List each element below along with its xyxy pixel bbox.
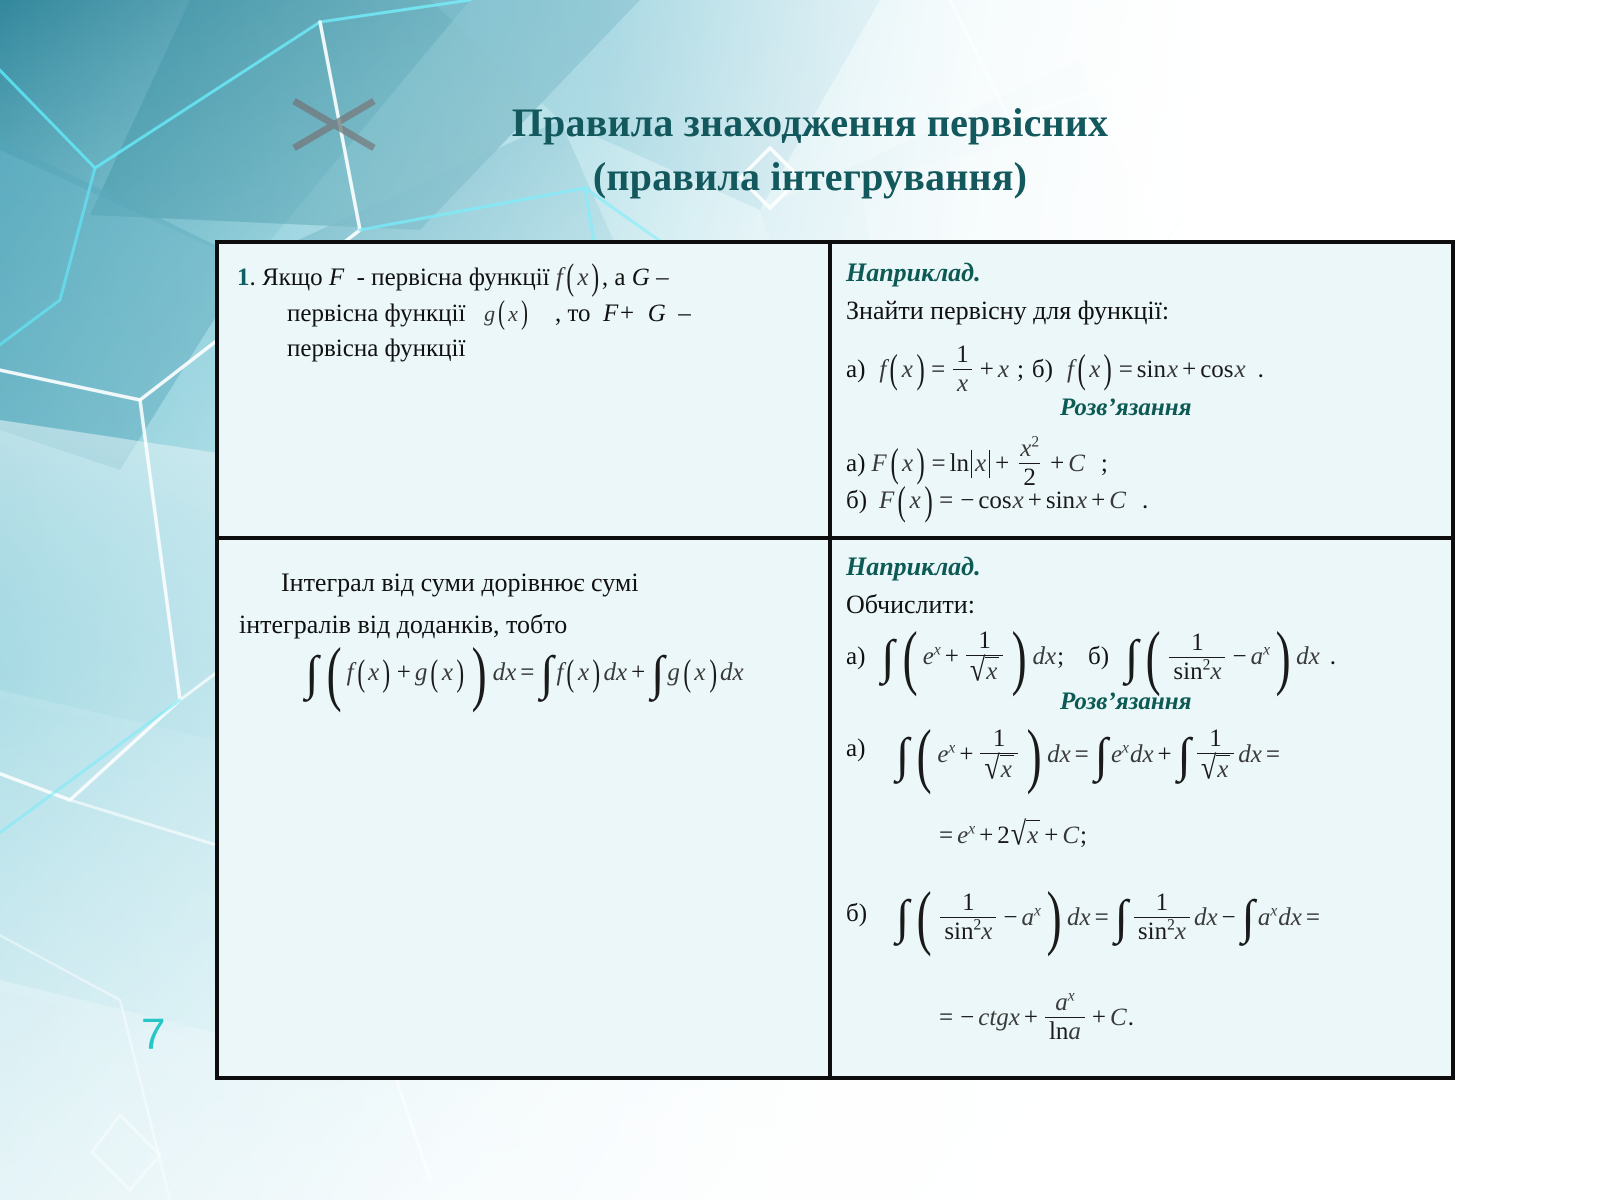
rule-1-dash-1: – [656,264,669,291]
rule-1-part-1: . Якщо [250,264,323,291]
formula-2a: ∫(ex+ 1√x )dx; [879,628,1064,686]
example-1-period: . [1258,356,1264,384]
rules-table: 1. Якщо F - первісна функції f(x), а G –… [215,240,1455,1080]
var-G: G [632,264,650,291]
rule-2-statement: Інтеграл від суми дорівнює сумі інтеграл… [239,562,812,646]
solution-1b-end: . [1142,487,1148,515]
rule-1-statement: 1. Якщо F - первісна функції f(x), а G –… [237,260,818,367]
formula-1b: f(x)= sinx+cosx [1067,356,1246,384]
formula-2b: ∫( 1sin2x −ax)dx [1123,630,1320,685]
table-row: Інтеграл від суми дорівнює сумі інтеграл… [219,540,1451,1076]
page-title: Правила знаходження первісних (правила і… [230,96,1390,204]
rule-2-cell: Інтеграл від суми дорівнює сумі інтеграл… [219,540,832,1076]
example-2-label-a: а) [846,643,865,671]
title-line-1: Правила знаходження первісних [230,96,1390,150]
title-line-2: (правила інтегрування) [230,150,1390,204]
var-F: F [329,264,344,291]
solution-1a-label: а) [846,450,865,478]
solution-1a-end: ; [1101,450,1108,478]
solution-2-heading: Розв’язання [1060,688,1192,716]
rule-2-formula: ∫(f(x)+g(x))dx= ∫f(x)dx+ ∫g(x)dx [219,658,828,695]
rule-number: 1 [237,264,250,291]
integral-sum-identity: ∫(f(x)+g(x))dx= ∫f(x)dx+ ∫g(x)dx [303,658,743,688]
example-1-label-a: а) [846,356,865,384]
math-g-of-x: g(x) [484,298,530,329]
example-1-heading: Наприклад. [846,258,981,288]
rule-2-line-1: Інтеграл від суми дорівнює сумі [239,562,812,604]
rule-1-part-3: , а [602,264,626,291]
rule-1-cell: 1. Якщо F - первісна функції f(x), а G –… [219,244,832,536]
example-1-label-b: б) [1032,356,1053,384]
example-2-period: . [1330,643,1336,671]
rule-1-dash-2: – [678,300,691,327]
table-row: 1. Якщо F - первісна функції f(x), а G –… [219,244,1451,540]
sum-F: F+ [603,300,635,327]
solution-2a-line-1: ∫(ex+ 1√x )dx= ∫exdx+ ∫ 1√x dx= [894,726,1283,784]
solution-2a-line-2: =ex+2√x+C; [936,820,1087,852]
sum-G: G [648,300,666,327]
math-f-of-x: f(x) [556,260,602,296]
example-1-prompt: Знайти первісну для функції: [846,296,1169,326]
rule-1-part-6: первісна функції [237,331,818,367]
example-1-formulas: а) f(x)= 1x+x ; б) f(x)= sinx+cosx . [846,342,1264,397]
solution-1b-label: б) [846,487,867,515]
page-number: 7 [141,1010,165,1060]
example-2-formulas: а) ∫(ex+ 1√x )dx; б) ∫( 1sin2x −ax)dx . [846,628,1336,686]
solution-1b-formula: F(x)= −cosx+sinx+C [879,487,1126,515]
formula-1a: f(x)= 1x+x [879,342,1009,397]
example-2-label-b: б) [1088,643,1109,671]
example-2-cell: Наприклад. Обчислити: а) ∫(ex+ 1√x )dx; … [832,540,1451,1076]
solution-1a: а) F(x)= lnx+ x22+C ; [846,436,1108,491]
solution-1b: б) F(x)= −cosx+sinx+C . [846,487,1148,515]
example-1-semicolon: ; [1017,356,1024,384]
example-1-cell: Наприклад. Знайти первісну для функції: … [832,244,1451,536]
solution-2b-line-2: =−ctgx+ axlna +C. [936,990,1134,1045]
solution-1-heading: Розв’язання [1060,394,1192,422]
example-2-heading: Наприклад. [846,552,981,582]
rule-2-line-2: інтегралів від доданків, тобто [239,610,567,639]
rule-1-part-4: первісна функції [287,300,465,327]
solution-2b-line-1: ∫( 1sin2x −ax)dx= ∫ 1sin2x dx− ∫axdx= [894,890,1323,945]
rule-1-part-5: , то [555,300,591,327]
solution-2b-label: б) [846,900,867,928]
rule-1-part-2: - первісна функції [357,264,550,291]
solution-2a-label: а) [846,735,865,763]
